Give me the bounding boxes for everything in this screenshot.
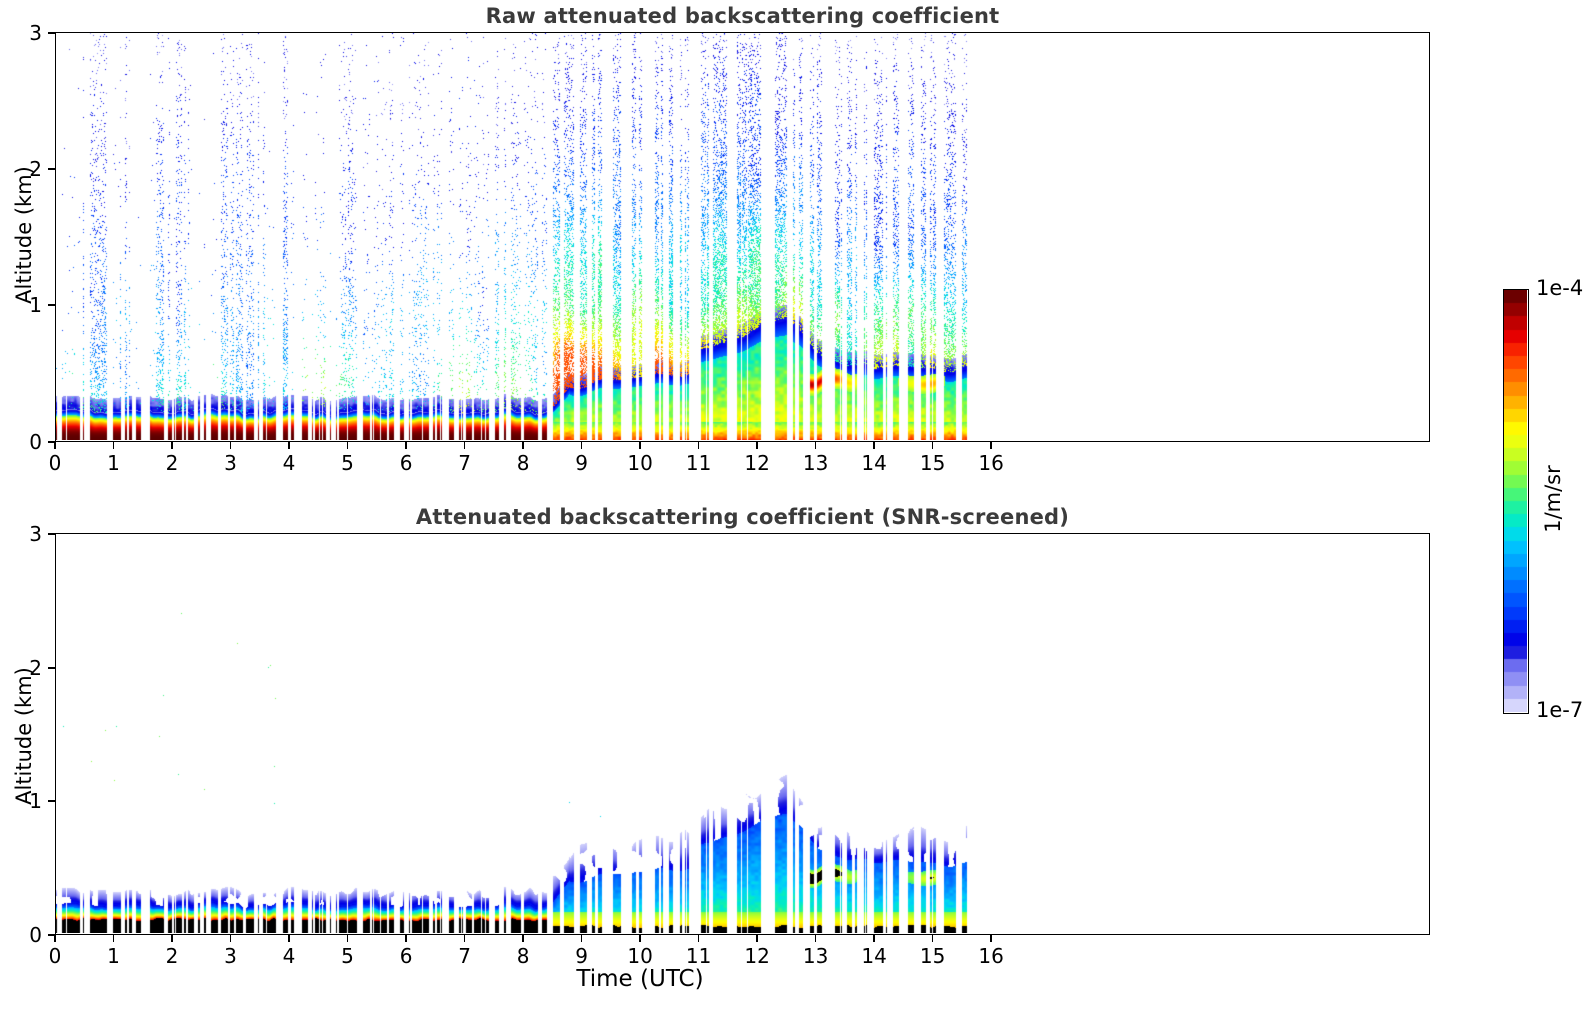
x-ticklabel-screened-9: 9 — [552, 944, 612, 968]
x-ticklabel-raw-9: 9 — [552, 451, 612, 475]
x-tick-raw-0 — [54, 442, 56, 449]
x-tick-screened-16 — [990, 935, 992, 942]
y-ticklabel-scr-3: 3 — [0, 522, 42, 546]
x-tick-raw-9 — [581, 442, 583, 449]
x-tick-screened-13 — [815, 935, 817, 942]
x-ticklabel-screened-6: 6 — [376, 944, 436, 968]
x-ticklabel-screened-8: 8 — [493, 944, 553, 968]
x-ticklabel-raw-13: 13 — [786, 451, 846, 475]
x-ticklabel-screened-15: 15 — [903, 944, 963, 968]
x-tick-screened-14 — [873, 935, 875, 942]
x-ticklabel-raw-12: 12 — [727, 451, 787, 475]
x-tick-raw-14 — [873, 442, 875, 449]
x-tick-screened-11 — [698, 935, 700, 942]
plot-area-raw[interactable] — [55, 32, 1430, 442]
colorbar-group: 1e-4 1e-7 1/m/sr — [1490, 270, 1595, 730]
x-tick-raw-13 — [815, 442, 817, 449]
x-tick-screened-15 — [932, 935, 934, 942]
panel-title-raw: Raw attenuated backscattering coefficien… — [55, 4, 1430, 28]
colorbar-max-label: 1e-4 — [1536, 276, 1583, 300]
x-ticklabel-screened-3: 3 — [201, 944, 261, 968]
x-tick-raw-6 — [405, 442, 407, 449]
x-tick-screened-3 — [230, 935, 232, 942]
x-ticklabel-screened-1: 1 — [84, 944, 144, 968]
x-ticklabel-raw-11: 11 — [669, 451, 729, 475]
x-ticklabel-screened-12: 12 — [727, 944, 787, 968]
colorbar[interactable] — [1503, 289, 1529, 714]
y-tick-raw-3 — [48, 32, 55, 34]
y-tick-raw-1 — [48, 304, 55, 306]
y-tick-scr-1 — [48, 800, 55, 802]
x-tick-raw-7 — [464, 442, 466, 449]
x-ticklabel-raw-6: 6 — [376, 451, 436, 475]
x-ticklabel-screened-5: 5 — [318, 944, 378, 968]
x-tick-screened-6 — [405, 935, 407, 942]
x-ticklabel-screened-14: 14 — [844, 944, 904, 968]
heatmap-screened — [56, 534, 1428, 933]
x-ticklabel-screened-2: 2 — [142, 944, 202, 968]
y-ticklabel-scr-1: 1 — [0, 789, 42, 813]
x-tick-raw-1 — [113, 442, 115, 449]
x-tick-raw-3 — [230, 442, 232, 449]
y-tick-scr-2 — [48, 667, 55, 669]
x-ticklabel-raw-7: 7 — [435, 451, 495, 475]
x-axis-label: Time (UTC) — [440, 966, 840, 992]
colorbar-title: 1/m/sr — [1541, 444, 1565, 554]
x-ticklabel-raw-1: 1 — [84, 451, 144, 475]
x-tick-screened-4 — [288, 935, 290, 942]
x-ticklabel-screened-10: 10 — [610, 944, 670, 968]
x-ticklabel-raw-2: 2 — [142, 451, 202, 475]
figure-canvas: Raw attenuated backscattering coefficien… — [0, 0, 1595, 1020]
x-ticklabel-raw-10: 10 — [610, 451, 670, 475]
x-ticklabel-screened-4: 4 — [259, 944, 319, 968]
x-ticklabel-raw-4: 4 — [259, 451, 319, 475]
y-tick-raw-2 — [48, 168, 55, 170]
x-tick-screened-2 — [171, 935, 173, 942]
x-tick-raw-5 — [347, 442, 349, 449]
x-tick-raw-15 — [932, 442, 934, 449]
x-tick-screened-5 — [347, 935, 349, 942]
x-tick-raw-16 — [990, 442, 992, 449]
x-tick-screened-1 — [113, 935, 115, 942]
x-ticklabel-raw-15: 15 — [903, 451, 963, 475]
x-tick-raw-4 — [288, 442, 290, 449]
x-tick-raw-11 — [698, 442, 700, 449]
x-ticklabel-raw-5: 5 — [318, 451, 378, 475]
y-ticklabel-raw-1: 1 — [0, 293, 42, 317]
y-ticklabel-raw-2: 2 — [0, 157, 42, 181]
x-tick-raw-12 — [756, 442, 758, 449]
x-tick-screened-0 — [54, 935, 56, 942]
x-ticklabel-raw-0: 0 — [25, 451, 85, 475]
colorbar-min-label: 1e-7 — [1536, 698, 1583, 722]
x-tick-screened-9 — [581, 935, 583, 942]
x-tick-screened-12 — [756, 935, 758, 942]
x-ticklabel-raw-3: 3 — [201, 451, 261, 475]
x-tick-screened-10 — [639, 935, 641, 942]
x-tick-raw-10 — [639, 442, 641, 449]
colorbar-gradient — [1504, 290, 1527, 712]
plot-area-screened[interactable] — [55, 533, 1430, 935]
y-tick-scr-3 — [48, 533, 55, 535]
heatmap-raw — [56, 33, 1428, 440]
x-ticklabel-raw-14: 14 — [844, 451, 904, 475]
y-ticklabel-scr-2: 2 — [0, 656, 42, 680]
x-tick-raw-2 — [171, 442, 173, 449]
y-ticklabel-raw-3: 3 — [0, 21, 42, 45]
x-ticklabel-screened-11: 11 — [669, 944, 729, 968]
x-tick-screened-7 — [464, 935, 466, 942]
x-ticklabel-raw-16: 16 — [961, 451, 1021, 475]
panel-title-screened: Attenuated backscattering coefficient (S… — [55, 505, 1430, 529]
x-tick-screened-8 — [522, 935, 524, 942]
x-ticklabel-screened-0: 0 — [25, 944, 85, 968]
x-ticklabel-screened-16: 16 — [961, 944, 1021, 968]
x-ticklabel-screened-13: 13 — [786, 944, 846, 968]
x-tick-raw-8 — [522, 442, 524, 449]
x-ticklabel-screened-7: 7 — [435, 944, 495, 968]
x-ticklabel-raw-8: 8 — [493, 451, 553, 475]
